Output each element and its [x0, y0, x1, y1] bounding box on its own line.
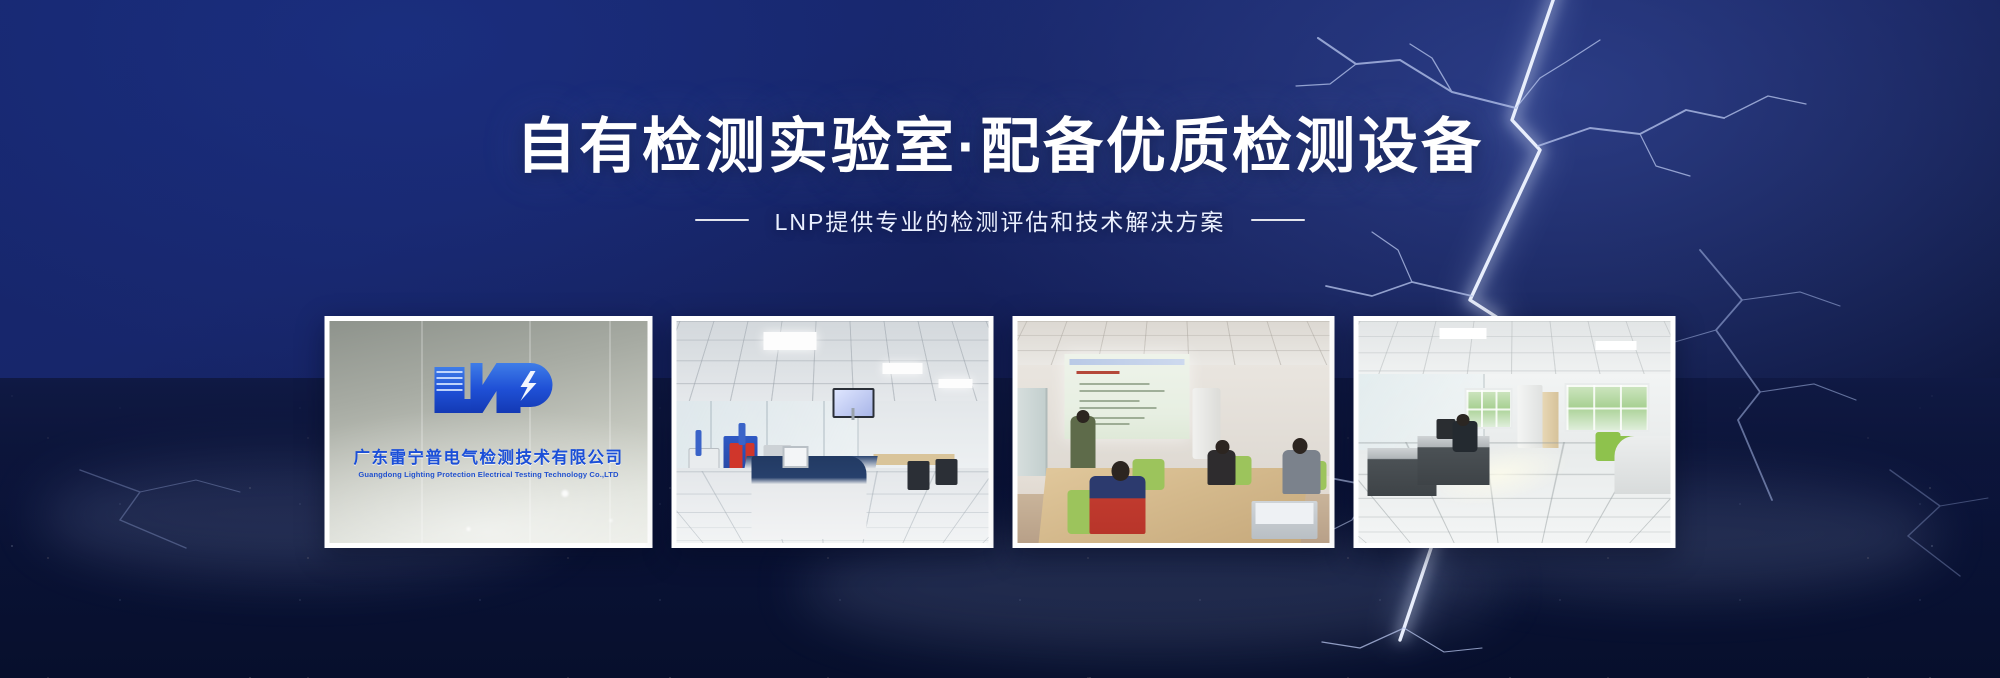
gallery-photo-testing-laboratory[interactable]: 检测实验室 高压试验区与控制台 — [672, 316, 994, 548]
wall-specular-highlight — [562, 490, 569, 497]
console-monitor — [783, 446, 809, 468]
laptop-on-table — [1252, 501, 1318, 539]
wall-panel-seam — [609, 321, 610, 543]
slide-text-line — [1079, 390, 1164, 392]
attendee-head — [1216, 440, 1230, 455]
window-grid — [1566, 385, 1647, 429]
test-column — [739, 423, 745, 445]
banner-copy: 自有检测实验室·配备优质检测设备 LNP提供专业的检测评估和技术解决方案 — [0, 112, 2000, 237]
office-chair — [935, 459, 957, 486]
page-subtitle: LNP提供专业的检测评估和技术解决方案 — [775, 203, 1226, 237]
attendee-front — [1089, 476, 1145, 534]
slide-title-bar — [1069, 359, 1184, 365]
lnp-logo-icon — [421, 357, 557, 419]
signage-wall-image: 广东雷宁普电气检测技术有限公司 Guangdong Lighting Prote… — [330, 321, 648, 543]
wall-panel-seam — [422, 321, 423, 543]
rule-left-icon — [695, 219, 749, 221]
display-mount-stem — [851, 408, 854, 420]
wall-specular-highlight — [609, 519, 612, 522]
gallery-photo-open-office-area[interactable]: 办公区 办公桌与前台 — [1354, 316, 1676, 548]
ceiling-light-panel — [764, 332, 817, 350]
control-console — [751, 456, 866, 538]
attendee-middle — [1208, 450, 1236, 486]
attendee-head — [1111, 461, 1130, 481]
office-chair — [907, 461, 929, 490]
room-door — [1018, 388, 1048, 477]
photo-gallery: 广东雷宁普电气检测技术有限公司 Guangdong Lighting Prote… — [325, 316, 1676, 548]
gallery-photo-company-signage-wall[interactable]: 广东雷宁普电气检测技术有限公司 Guangdong Lighting Prote… — [325, 316, 653, 548]
hero-banner: 自有检测实验室·配备优质检测设备 LNP提供专业的检测评估和技术解决方案 — [0, 0, 2000, 678]
reception-counter — [1614, 436, 1670, 494]
slide-heading-line — [1077, 371, 1119, 374]
window-right — [1564, 383, 1649, 431]
ceiling-vent — [1596, 341, 1637, 350]
page-title: 自有检测实验室·配备优质检测设备 — [0, 112, 2000, 183]
slide-text-line — [1079, 407, 1156, 409]
presenter-standing — [1071, 416, 1096, 474]
ceiling-light-panel — [882, 363, 923, 374]
wall-panel-seam — [530, 321, 531, 543]
open-office-image: 办公区 办公桌与前台 — [1359, 321, 1671, 543]
meeting-room-image: 会议培训室 投影演示 — [1018, 321, 1330, 543]
wall-specular-highlight — [466, 527, 470, 531]
ceiling-vent — [1440, 328, 1487, 339]
attendee-right — [1283, 450, 1320, 494]
signage-company-name-cn: 广东雷宁普电气检测技术有限公司 — [354, 444, 624, 468]
signage-company-name-en: Guangdong Lighting Protection Electrical… — [358, 470, 618, 479]
presenter-head — [1076, 410, 1089, 423]
testing-laboratory-image: 检测实验室 高压试验区与控制台 — [677, 321, 989, 543]
slide-text-line — [1079, 400, 1139, 402]
ceiling-light-panel — [939, 379, 973, 388]
gallery-photo-meeting-training-room[interactable]: 会议培训室 投影演示 — [1013, 316, 1335, 548]
rule-right-icon — [1251, 219, 1305, 221]
test-column — [695, 430, 701, 457]
laptop-screen — [1255, 503, 1313, 524]
slide-text-line — [1079, 383, 1149, 385]
subtitle-row: LNP提供专业的检测评估和技术解决方案 — [0, 203, 2000, 237]
